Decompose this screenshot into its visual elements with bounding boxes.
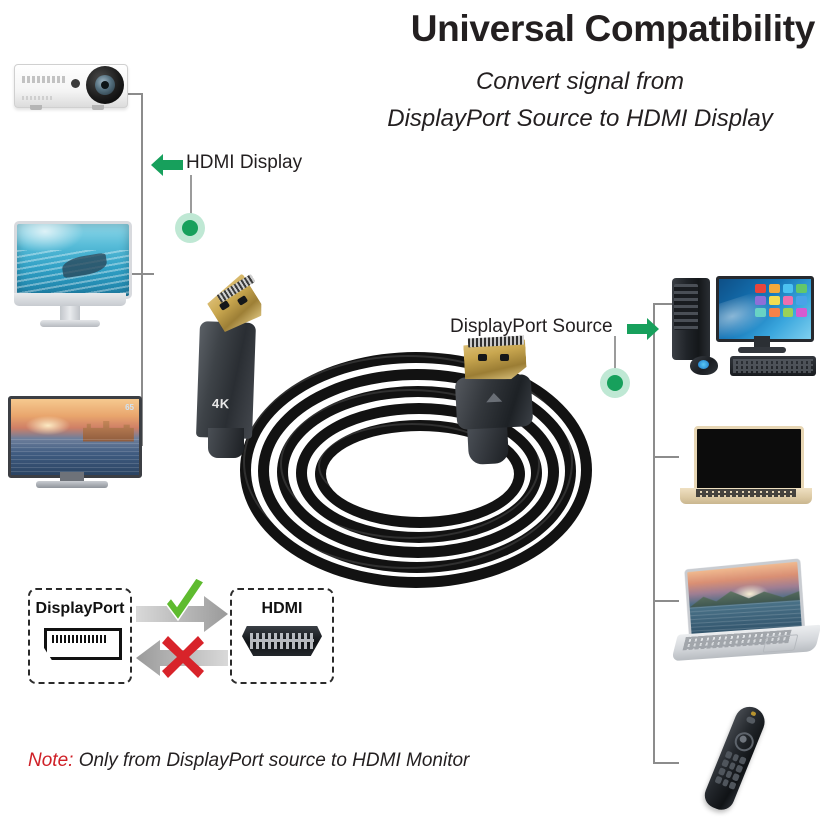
note-prefix: Note: bbox=[28, 750, 73, 771]
cross-icon bbox=[160, 634, 206, 680]
callout-label-hdmi-display: HDMI Display bbox=[186, 152, 302, 174]
hdmi-connector: 4K bbox=[198, 268, 262, 438]
device-all-in-one-monitor bbox=[0, 215, 140, 333]
device-tv-remote bbox=[692, 700, 802, 820]
callout-stem-displayport bbox=[614, 336, 616, 372]
right-bracket-line bbox=[653, 303, 655, 762]
note-text: Note: Only from DisplayPort source to HD… bbox=[28, 750, 469, 772]
green-dot-marker-hdmi bbox=[175, 213, 205, 243]
device-desktop-computer bbox=[668, 268, 818, 380]
device-projector bbox=[8, 52, 134, 114]
callout-displayport-source: DisplayPort Source bbox=[450, 310, 650, 350]
device-television: 65 bbox=[0, 388, 146, 494]
green-dot-marker-displayport bbox=[600, 368, 630, 398]
note-body: Only from DisplayPort source to HDMI Mon… bbox=[79, 750, 470, 771]
subtitle-line-2: DisplayPort Source to HDMI Display bbox=[345, 105, 815, 133]
page-title: Universal Compatibility bbox=[345, 8, 815, 50]
device-gold-laptop bbox=[672, 418, 820, 510]
compat-label-displayport: DisplayPort bbox=[30, 600, 130, 618]
infographic-canvas: Universal Compatibility Convert signal f… bbox=[0, 0, 820, 820]
compat-box-displayport: DisplayPort bbox=[28, 588, 132, 684]
arrow-left-icon bbox=[150, 152, 184, 178]
right-bracket-stub-remote bbox=[653, 762, 679, 764]
arrow-right-icon bbox=[626, 316, 660, 342]
cable-4k-label: 4K bbox=[212, 396, 230, 412]
subtitle-line-1: Convert signal from bbox=[345, 68, 815, 96]
displayport-connector bbox=[446, 336, 542, 466]
tv-screen-badge: 65 bbox=[125, 403, 134, 412]
compat-label-hdmi: HDMI bbox=[232, 600, 332, 618]
compat-box-hdmi: HDMI bbox=[230, 588, 334, 684]
check-icon bbox=[160, 578, 208, 630]
callout-stem-hdmi bbox=[190, 175, 192, 217]
desktop-icon-grid bbox=[755, 284, 807, 328]
device-silver-laptop bbox=[663, 553, 820, 668]
callout-label-displayport-source: DisplayPort Source bbox=[450, 316, 613, 338]
